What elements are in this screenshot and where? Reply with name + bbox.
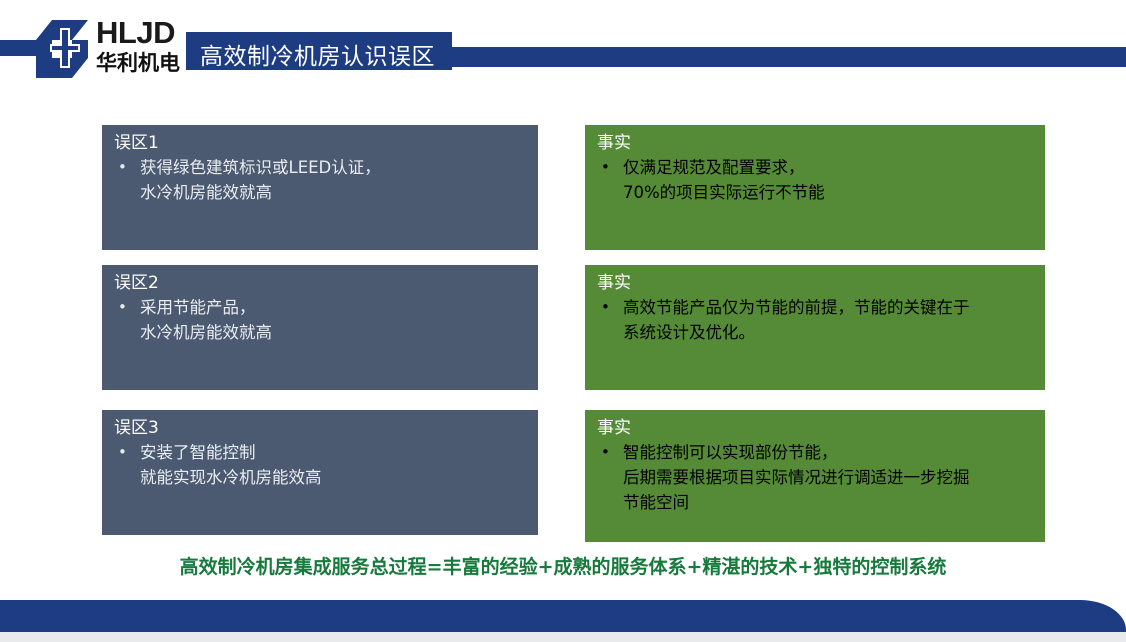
bullet-dot-icon: • (114, 155, 140, 180)
comparison-grid: 误区1 • 获得绿色建筑标识或LEED认证， 水冷机房能效就高 事实 • 仅满足… (0, 96, 1126, 546)
fact-card-2-bullet: • 高效节能产品仅为节能的前提，节能的关键在于 系统设计及优化。 (597, 295, 1033, 345)
myth-card-2: 误区2 • 采用节能产品， 水冷机房能效就高 (102, 265, 538, 390)
slide-header: HLJD 华利机电 高效制冷机房认识误区 (0, 0, 1126, 96)
myth-card-1: 误区1 • 获得绿色建筑标识或LEED认证， 水冷机房能效就高 (102, 125, 538, 250)
logo-wordmark: HLJD 华利机电 (96, 16, 196, 80)
bullet-dot-icon: • (114, 440, 140, 465)
fact-card-3: 事实 • 智能控制可以实现部份节能， 后期需要根据项目实际情况进行调适进一步挖掘… (585, 410, 1045, 542)
fact-card-3-heading: 事实 (597, 417, 1033, 439)
bullet-dot-icon: • (597, 295, 623, 320)
footer-bottom-strip (0, 632, 1126, 642)
slide-title-banner: 高效制冷机房认识误区 (186, 32, 452, 70)
fact-card-3-bullet: • 智能控制可以实现部份节能， 后期需要根据项目实际情况进行调适进一步挖掘 节能… (597, 440, 1033, 515)
page-title: 高效制冷机房认识误区 (200, 37, 435, 71)
myth-card-1-bullet: • 获得绿色建筑标识或LEED认证， 水冷机房能效就高 (114, 155, 526, 205)
myth-card-2-heading: 误区2 (114, 272, 526, 294)
logo-latin-text: HLJD (96, 16, 196, 50)
myth-card-1-heading: 误区1 (114, 132, 526, 154)
fact-card-3-text: 智能控制可以实现部份节能， 后期需要根据项目实际情况进行调适进一步挖掘 节能空间 (623, 440, 970, 515)
fact-card-1-heading: 事实 (597, 132, 1033, 154)
myth-card-2-text: 采用节能产品， 水冷机房能效就高 (140, 295, 272, 345)
fact-card-2-heading: 事实 (597, 272, 1033, 294)
myth-card-3: 误区3 • 安装了智能控制 就能实现水冷机房能效高 (102, 410, 538, 535)
logo-chinese-text: 华利机电 (96, 50, 196, 76)
footer-bar (0, 600, 1126, 632)
header-rule (450, 47, 1126, 67)
myth-card-2-bullet: • 采用节能产品， 水冷机房能效就高 (114, 295, 526, 345)
fact-card-2: 事实 • 高效节能产品仅为节能的前提，节能的关键在于 系统设计及优化。 (585, 265, 1045, 390)
myth-card-1-text: 获得绿色建筑标识或LEED认证， 水冷机房能效就高 (140, 155, 381, 205)
myth-card-3-heading: 误区3 (114, 417, 526, 439)
fact-card-1-text: 仅满足规范及配置要求， 70%的项目实际运行不节能 (623, 155, 825, 205)
hljd-hexagon-h-logo-icon (30, 18, 94, 80)
footer-summary: 高效制冷机房集成服务总过程=丰富的经验+成熟的服务体系+精湛的技术+独特的控制系… (0, 552, 1126, 579)
fact-card-1: 事实 • 仅满足规范及配置要求， 70%的项目实际运行不节能 (585, 125, 1045, 250)
fact-card-2-text: 高效节能产品仅为节能的前提，节能的关键在于 系统设计及优化。 (623, 295, 970, 345)
fact-card-1-bullet: • 仅满足规范及配置要求， 70%的项目实际运行不节能 (597, 155, 1033, 205)
bullet-dot-icon: • (597, 440, 623, 465)
bullet-dot-icon: • (114, 295, 140, 320)
myth-card-3-text: 安装了智能控制 就能实现水冷机房能效高 (140, 440, 322, 490)
bullet-dot-icon: • (597, 155, 623, 180)
myth-card-3-bullet: • 安装了智能控制 就能实现水冷机房能效高 (114, 440, 526, 490)
company-logo: HLJD 华利机电 (30, 16, 190, 80)
